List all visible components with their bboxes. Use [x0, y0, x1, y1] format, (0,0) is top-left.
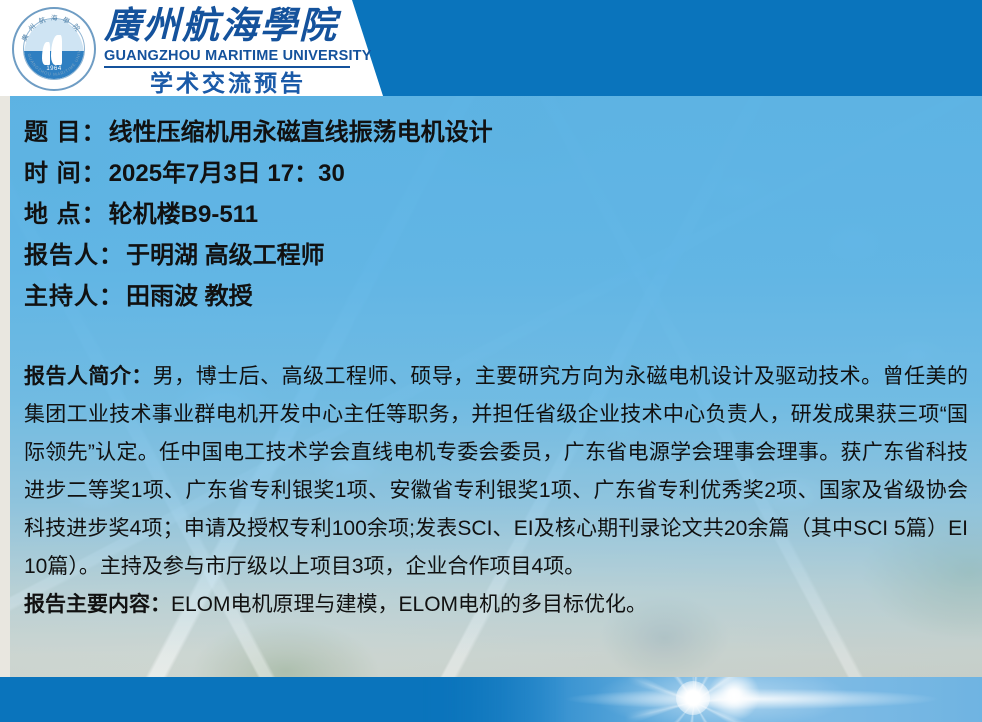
info-row-location: 地 点： 轮机楼B9-511	[24, 194, 970, 235]
info-label: 题 目：	[24, 112, 107, 153]
poster-subtitle: 学术交流预告	[104, 71, 352, 96]
speaker-bio-text: 男，博士后、高级工程师、硕导，主要研究方向为永磁电机设计及驱动技术。曾任美的集团…	[24, 365, 968, 578]
header-banner: 1964 廣州航海學院 GUANGZHOU MARITIME UNIVERSIT…	[0, 0, 982, 96]
footer-sky-image	[422, 677, 982, 722]
talk-content-label: 报告主要内容：	[24, 593, 171, 616]
university-wordmark: 廣州航海學院 GUANGZHOU MARITIME UNIVERSITY	[104, 4, 352, 68]
info-value: 2025年7月3日 17：30	[109, 153, 345, 194]
wordmark-divider	[104, 66, 350, 68]
poster-body-text: 报告人简介：男，博士后、高级工程师、硕导，主要研究方向为永磁电机设计及驱动技术。…	[24, 358, 968, 624]
talk-content-text: ELOM电机原理与建模，ELOM电机的多目标优化。	[171, 593, 647, 616]
info-row-time: 时 间： 2025年7月3日 17：30	[24, 153, 970, 194]
info-row-speaker: 报告人： 于明湖 高级工程师	[24, 235, 970, 276]
university-name-en: GUANGZHOU MARITIME UNIVERSITY	[104, 48, 352, 64]
footer-banner	[0, 677, 982, 722]
info-value: 于明湖 高级工程师	[126, 235, 325, 276]
info-value: 轮机楼B9-511	[109, 194, 258, 235]
info-value: 田雨波 教授	[126, 276, 253, 317]
svg-text:廣州航海學院: 廣州航海學院	[19, 13, 85, 42]
info-row-title: 题 目： 线性压缩机用永磁直线振荡电机设计	[24, 112, 970, 153]
info-value: 线性压缩机用永磁直线振荡电机设计	[109, 112, 493, 153]
info-label: 时 间：	[24, 153, 107, 194]
emblem-arc-text: 廣州航海學院 GUANGZHOU MARITIME UNIVERSITY	[14, 9, 94, 89]
speaker-bio-label: 报告人简介：	[24, 365, 153, 388]
info-label: 主持人：	[24, 276, 124, 317]
info-label: 地 点：	[24, 194, 107, 235]
info-label: 报告人：	[24, 235, 124, 276]
poster-content: 题 目： 线性压缩机用永磁直线振荡电机设计 时 间： 2025年7月3日 17：…	[10, 96, 982, 677]
event-info-list: 题 目： 线性压缩机用永磁直线振荡电机设计 时 间： 2025年7月3日 17：…	[24, 112, 970, 317]
university-name-cn: 廣州航海學院	[104, 4, 352, 50]
info-row-host: 主持人： 田雨波 教授	[24, 276, 970, 317]
academic-announcement-poster: 1964 廣州航海學院 GUANGZHOU MARITIME UNIVERSIT…	[0, 0, 982, 722]
speaker-bio-paragraph: 报告人简介：男，博士后、高级工程师、硕导，主要研究方向为永磁电机设计及驱动技术。…	[24, 358, 968, 586]
university-emblem-icon: 1964 廣州航海學院 GUANGZHOU MARITIME UNIVERSIT…	[12, 7, 96, 91]
talk-content-paragraph: 报告主要内容：ELOM电机原理与建模，ELOM电机的多目标优化。	[24, 586, 968, 624]
